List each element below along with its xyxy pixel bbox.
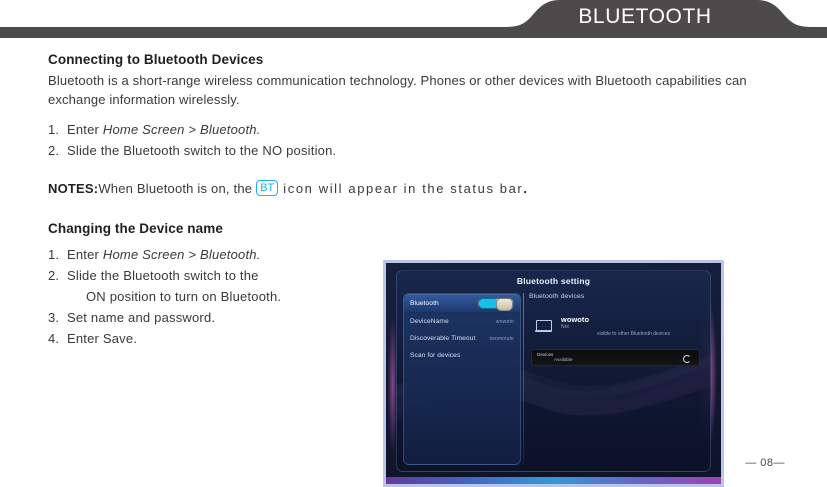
sidebar-item-label: Discoverable Timeout [410,335,475,342]
device-visibility-text: visible to other Bluetooth devices [597,331,670,337]
list-item-emphasis: Home Screen > Bluetooth. [103,247,261,262]
available-devices-status: Available [554,357,573,362]
list-item: 3. Set name and password. [48,307,358,328]
sidebar-item-label: Scan for devices [410,352,460,359]
notes-period: . [523,181,527,196]
list-item-number: 3. [48,307,67,328]
device-name: wowoto [561,315,589,324]
list-item-text: Enter Home Screen > Bluetooth. [67,119,508,140]
list-item-text: Slide the Bluetooth switch to the NO pos… [67,140,508,161]
sidebar-item-value: wowoto [496,319,514,325]
bluetooth-settings-panel: Bluetooth setting Bluetooth DeviceName w… [396,270,711,472]
page-number: — 08— [745,457,785,469]
list-item-number: 1. [48,244,67,265]
sidebar-item-device-name[interactable]: DeviceName wowoto [404,313,520,330]
list-item-text: Enter Home Screen > Bluetooth. [67,244,358,265]
sidebar-item-scan-for-devices[interactable]: Scan for devices [404,347,520,364]
devices-panel: Bluetooth devices wowoto Not visible to … [529,293,704,465]
notes-text-before: When Bluetooth is on, the [98,181,252,196]
bluetooth-status-icon: BT [256,180,278,196]
bluetooth-toggle[interactable] [478,298,514,309]
list-item: 1. Enter Home Screen > Bluetooth. [48,244,358,265]
panel-divider [523,293,524,465]
page-header: BLUETOOTH [0,0,827,38]
list-item-number: 2. [48,265,67,307]
available-devices-bar: Devices Available [531,349,700,366]
list-item-text: Set name and password. [67,307,358,328]
section-paragraph-connecting: Bluetooth is a short-range wireless comm… [48,71,748,109]
list-item-number: 2. [48,140,67,161]
list-item-number: 1. [48,119,67,140]
sidebar-item-label: Bluetooth [410,300,439,307]
steps-list-connecting: 1. Enter Home Screen > Bluetooth. 2. Sli… [48,119,508,161]
page-title: BLUETOOTH [490,2,800,32]
sidebar-item-value: twominute [489,336,514,342]
settings-sidebar: Bluetooth DeviceName wowoto Discoverable… [403,293,521,465]
page-content: Connecting to Bluetooth Devices Bluetoot… [0,38,827,481]
available-devices-title: Devices [537,352,553,357]
screenshot-inner: Bluetooth setting Bluetooth DeviceName w… [386,263,721,484]
notes-label: NOTES: [48,181,98,196]
steps-list-device-name: 1. Enter Home Screen > Bluetooth. 2. Sli… [48,244,358,349]
panel-title: Bluetooth setting [397,276,710,286]
list-item: 2. Slide the Bluetooth switch to the NO … [48,140,508,161]
list-item-text: Slide the Bluetooth switch to the ON pos… [67,265,358,307]
device-visibility-prefix: Not [561,324,569,330]
notes-text-after: icon will appear in the status bar [283,181,523,196]
device-screenshot: Bluetooth setting Bluetooth DeviceName w… [383,260,724,487]
devices-heading: Bluetooth devices [529,293,704,300]
list-item: 1. Enter Home Screen > Bluetooth. [48,119,508,140]
list-item-text: Enter Save. [67,328,358,349]
notes-row: NOTES: When Bluetooth is on, the BT icon… [48,180,527,196]
list-item: 2. Slide the Bluetooth switch to the ON … [48,265,358,307]
list-item-number: 4. [48,328,67,349]
list-item-emphasis: Home Screen > Bluetooth. [103,122,261,137]
section-heading-device-name: Changing the Device name [48,221,223,236]
loading-spinner-icon [683,355,691,363]
section-heading-connecting: Connecting to Bluetooth Devices [48,52,263,67]
sidebar-item-label: DeviceName [410,318,449,325]
device-entry[interactable]: wowoto Not visible to other Bluetooth de… [535,313,700,347]
laptop-icon [535,320,552,332]
sidebar-item-discoverable-timeout[interactable]: Discoverable Timeout twominute [404,330,520,347]
sidebar-item-bluetooth[interactable]: Bluetooth [404,294,520,313]
list-item-continuation: ON position to turn on Bluetooth. [67,286,358,307]
list-item: 4. Enter Save. [48,328,358,349]
